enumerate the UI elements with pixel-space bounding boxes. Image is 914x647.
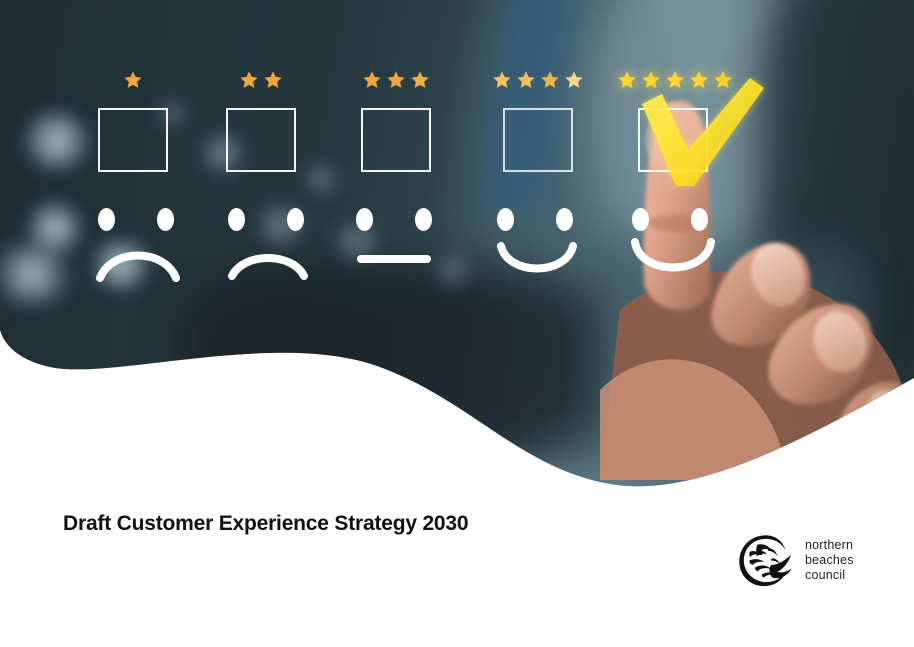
- eye: [287, 208, 304, 231]
- star-rating-1: [98, 70, 168, 90]
- face-happy: [497, 200, 573, 280]
- star-icon: [713, 70, 733, 90]
- rating-checkbox-3[interactable]: [361, 108, 431, 172]
- eye: [415, 208, 432, 231]
- face-sad: [228, 200, 304, 280]
- star-icon: [123, 70, 143, 90]
- star-icon: [362, 70, 382, 90]
- rating-checkbox-1[interactable]: [98, 108, 168, 172]
- logo-line-3: council: [805, 568, 854, 583]
- star-icon: [689, 70, 709, 90]
- frown-mouth-icon: [92, 242, 184, 282]
- star-icon: [410, 70, 430, 90]
- smile-mouth-icon: [492, 238, 582, 282]
- rating-checkbox-4[interactable]: [503, 108, 573, 172]
- star-icon: [386, 70, 406, 90]
- northern-beaches-council-logo-mark-icon: [737, 532, 794, 589]
- star-rating-3: [353, 70, 439, 90]
- logo-line-2: beaches: [805, 553, 854, 568]
- star-icon: [617, 70, 637, 90]
- star-icon: [492, 70, 512, 90]
- star-icon: [516, 70, 536, 90]
- council-logo: northern beaches council: [737, 532, 854, 589]
- eye: [98, 208, 115, 231]
- page-title: Draft Customer Experience Strategy 2030: [63, 512, 468, 536]
- eye: [356, 208, 373, 231]
- face-very-sad: [98, 200, 174, 280]
- logo-wordmark: northern beaches council: [805, 538, 854, 583]
- star-icon: [564, 70, 584, 90]
- star-icon: [263, 70, 283, 90]
- star-rating-4: [490, 70, 586, 90]
- star-rating-5: [616, 70, 734, 90]
- eye: [556, 208, 573, 231]
- eye: [228, 208, 245, 231]
- smile-mouth-icon: [626, 236, 720, 282]
- eye: [691, 208, 708, 231]
- eye: [497, 208, 514, 231]
- flat-mouth-icon: [357, 255, 431, 263]
- rating-checkbox-2[interactable]: [226, 108, 296, 172]
- star-icon: [641, 70, 661, 90]
- frown-mouth-icon: [224, 246, 312, 282]
- rating-checkbox-5[interactable]: [638, 108, 708, 172]
- eye: [157, 208, 174, 231]
- star-icon: [540, 70, 560, 90]
- star-rating-2: [226, 70, 296, 90]
- logo-line-1: northern: [805, 538, 854, 553]
- hero-image: [0, 0, 914, 500]
- document-page: Draft Customer Experience Strategy 2030 …: [0, 0, 914, 647]
- star-icon: [665, 70, 685, 90]
- eye: [632, 208, 649, 231]
- star-icon: [239, 70, 259, 90]
- face-very-happy: [632, 200, 708, 280]
- face-neutral: [356, 200, 432, 280]
